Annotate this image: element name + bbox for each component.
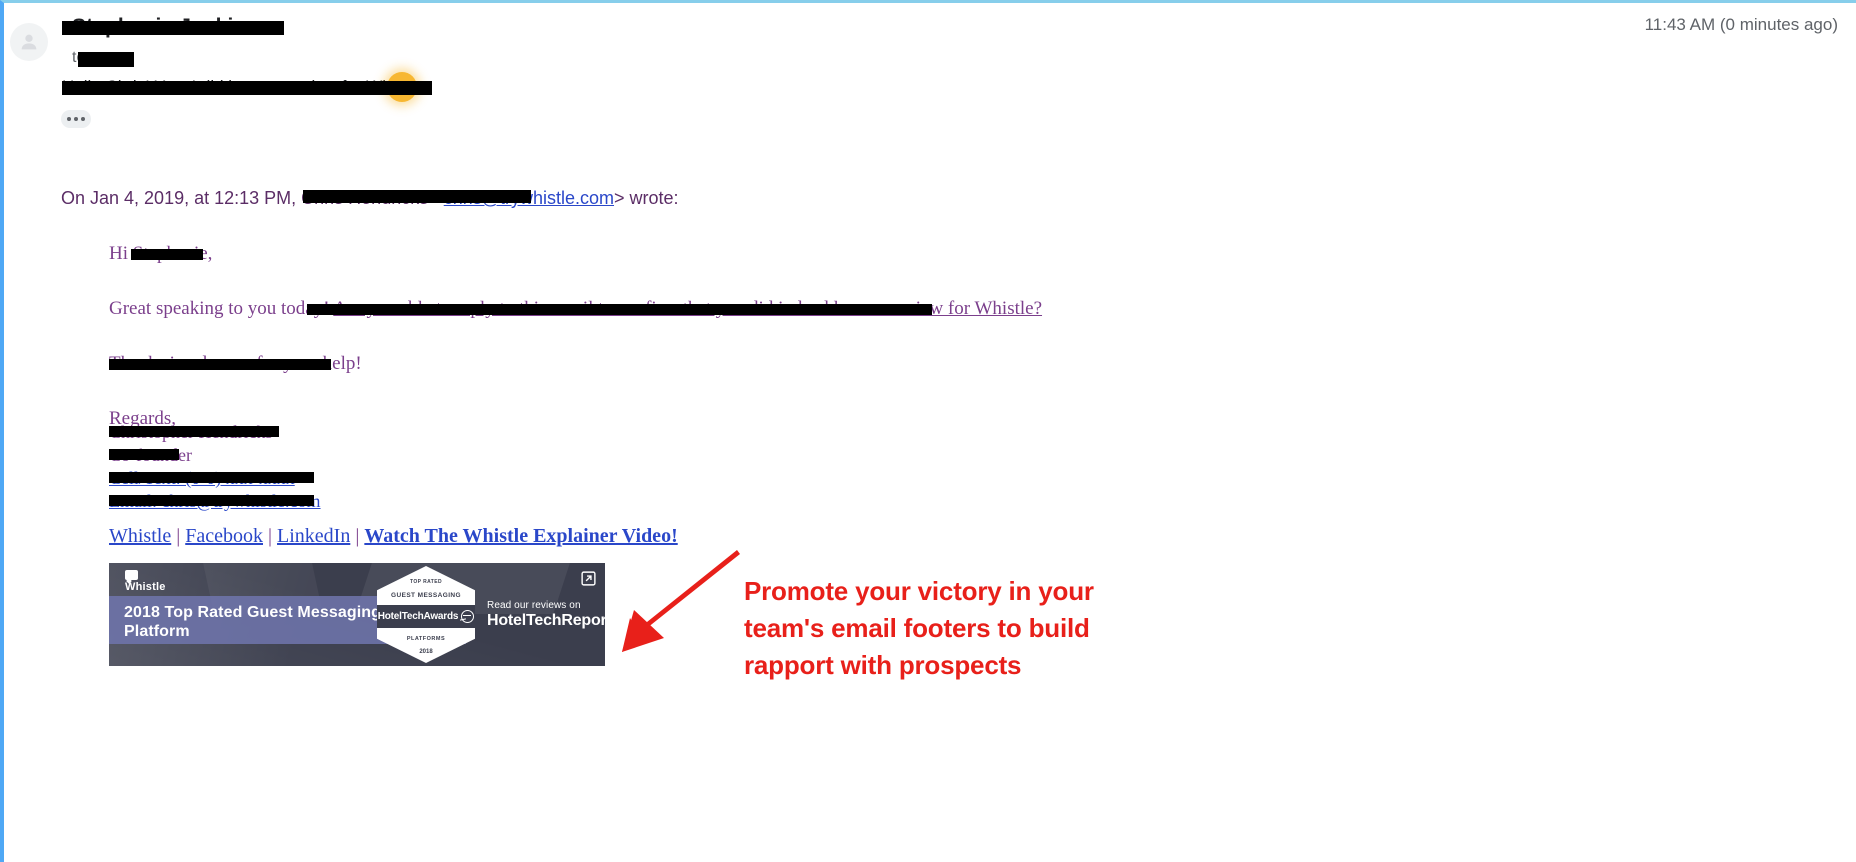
footer-link-linkedin[interactable]: LinkedIn	[277, 525, 350, 547]
footer-separator: |	[263, 525, 277, 547]
reviews-callout: Read our reviews on HotelTechReport	[487, 600, 605, 630]
footer-link-whistle[interactable]: Whistle	[109, 525, 171, 547]
quoted-header-address: Chris Hendricks <chris@trywhistle.com	[301, 188, 614, 209]
reviews-brand-text: HotelTechReport	[487, 612, 605, 630]
redaction-bar	[109, 359, 331, 370]
quoted-thanks-line: Thanks in advance for your help!	[109, 353, 1109, 375]
reviews-brand: HotelTechReport	[487, 612, 605, 630]
dot-icon	[67, 117, 71, 121]
sender-name[interactable]: Stephanie Jenkins	[72, 15, 258, 39]
whistle-logo: Whistle	[125, 570, 166, 593]
footer-link-facebook[interactable]: Facebook	[185, 525, 263, 547]
signature-line: Email: chris@trywhistle.com	[109, 490, 321, 513]
recipient-row[interactable]: to me	[72, 49, 129, 67]
badge-category: GUEST MESSAGING	[377, 592, 475, 599]
badge-segment: PLATFORMS	[377, 636, 475, 642]
quoted-body-lead: Great speaking to you today!	[109, 298, 330, 319]
footer-link-explainer-video[interactable]: Watch The Whistle Explainer Video!	[364, 525, 677, 547]
whistle-logo-text: Whistle	[125, 581, 166, 593]
redaction-bar	[131, 249, 203, 260]
dot-icon	[74, 117, 78, 121]
redaction-bar	[62, 81, 432, 95]
redaction-bar	[109, 449, 179, 460]
avatar[interactable]	[10, 23, 48, 61]
reviews-small-text: Read our reviews on	[487, 600, 605, 612]
redaction-bar	[109, 495, 314, 506]
quoted-greeting: Hi Stephanie,	[109, 243, 1109, 265]
redaction-bar	[109, 472, 314, 483]
quoted-message-header: On Jan 4, 2019, at 12:13 PM, Chris Hendr…	[61, 188, 679, 209]
badge-brand-band: HotelTechAwards	[377, 605, 475, 628]
arrow-pointing-down-left-icon	[604, 548, 754, 658]
quoted-header-prefix: On Jan 4, 2019, at 12:13 PM,	[61, 188, 296, 208]
annotation-text: Promote your victory in your team's emai…	[744, 573, 1164, 684]
redaction-bar	[62, 21, 284, 35]
message-timestamp: 11:43 AM (0 minutes ago)	[1645, 15, 1838, 35]
footer-separator: |	[171, 525, 185, 547]
footer-separator: |	[350, 525, 364, 547]
dot-icon	[81, 117, 85, 121]
hoteltech-logo-icon	[461, 610, 474, 623]
footer-links: Whistle|Facebook|LinkedIn|Watch The Whis…	[109, 525, 678, 548]
quoted-header-suffix: > wrote:	[614, 188, 679, 208]
message-snippet: Hello Chris! Yes, I did leave a review f…	[62, 77, 422, 97]
signature-line: Co-founder	[109, 444, 321, 467]
redaction-bar	[78, 52, 134, 67]
chat-bubble-icon	[125, 570, 138, 580]
external-link-icon[interactable]	[581, 571, 596, 586]
award-banner[interactable]: Whistle 2018 Top Rated Guest Messaging P…	[109, 563, 605, 666]
sender-row: Stephanie Jenkins	[72, 15, 258, 41]
redaction-bar	[307, 304, 932, 315]
recipient-label: to me	[72, 49, 112, 67]
show-trimmed-content-button[interactable]	[61, 110, 91, 128]
redaction-bar	[303, 190, 531, 203]
signature-block: Christopher Hendricks Co-founder Cell/Te…	[109, 421, 321, 513]
quoted-body-line: Great speaking to you today! Are you abl…	[109, 298, 1109, 320]
signature-line: Christopher Hendricks	[109, 421, 321, 444]
redaction-bar	[109, 426, 279, 437]
badge-brand-text: HotelTechAwards	[378, 611, 459, 622]
email-thread-screenshot: 11:43 AM (0 minutes ago) Stephanie Jenki…	[0, 0, 1856, 862]
signature-line: Cell/Text: (0-0) xxx-xxxx	[109, 467, 321, 490]
person-avatar-icon	[18, 31, 40, 53]
